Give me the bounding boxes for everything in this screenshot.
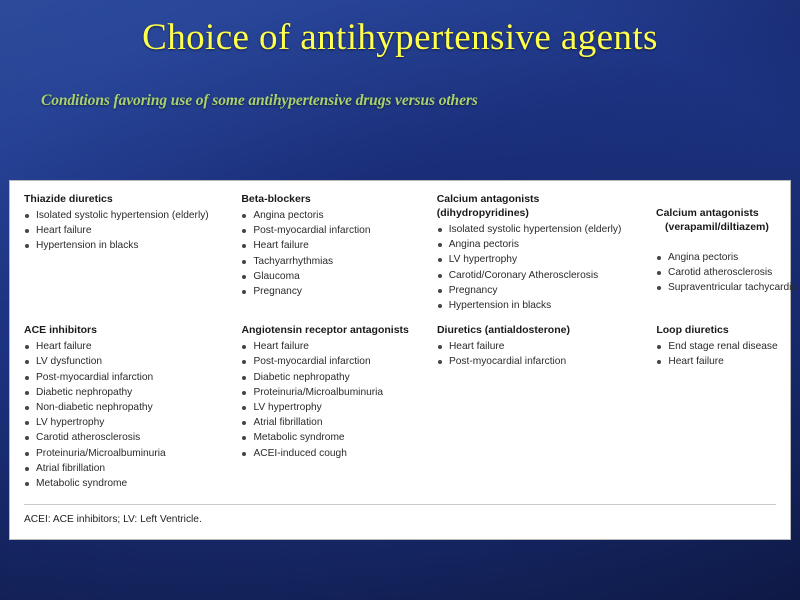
antihypertensive-agents-table: Thiazide diuretics Isolated systolic hyp… [9, 180, 791, 540]
list-item: Hypertension in blacks [24, 238, 219, 253]
column-heading: Beta-blockers [241, 192, 414, 206]
bottom-padding [10, 525, 790, 539]
list-item: Proteinuria/Microalbuminuria [24, 446, 219, 461]
column-heading-line2: (verapamil/diltiazem) [656, 220, 782, 234]
column-heading: Diuretics (antialdosterone) [437, 323, 634, 337]
list-item: Post-myocardial infarction [24, 370, 219, 385]
list-item: Post-myocardial infarction [241, 223, 414, 238]
item-list: Heart failure LV dysfunction Post-myocar… [24, 339, 219, 491]
item-list: Isolated systolic hypertension (elderly)… [437, 222, 634, 313]
list-item: Non-diabetic nephropathy [24, 400, 219, 415]
slide: Choice of antihypertensive agents Condit… [0, 0, 800, 600]
list-item: Atrial fibrillation [241, 415, 415, 430]
list-item: Post-myocardial infarction [241, 354, 415, 369]
column-heading: Angiotensin receptor antagonists [241, 323, 415, 337]
table-cell-diuretics-antialdosterone: Diuretics (antialdosterone) Heart failur… [423, 323, 642, 491]
column-heading-line1: Calcium antagonists [656, 207, 759, 219]
list-item: ACEI-induced cough [241, 446, 415, 461]
table-row: Thiazide diuretics Isolated systolic hyp… [10, 181, 790, 317]
list-item: Angina pectoris [241, 208, 414, 223]
slide-subtitle: Conditions favoring use of some antihype… [41, 92, 478, 110]
table-row: ACE inhibitors Heart failure LV dysfunct… [10, 317, 790, 495]
list-item: Pregnancy [241, 284, 414, 299]
list-item: Post-myocardial infarction [437, 354, 634, 369]
list-item: Metabolic syndrome [24, 476, 219, 491]
column-heading: ACE inhibitors [24, 323, 219, 337]
list-item: End stage renal disease [656, 339, 782, 354]
table-cell-beta-blockers: Beta-blockers Angina pectoris Post-myoca… [227, 192, 422, 313]
list-item: LV hypertrophy [241, 400, 415, 415]
column-heading: Thiazide diuretics [24, 192, 219, 206]
table-cell-loop-diuretics: Loop diuretics End stage renal disease H… [642, 323, 790, 491]
list-item: Heart failure [656, 354, 782, 369]
column-heading: Loop diuretics [656, 323, 782, 337]
table-footnote: ACEI: ACE inhibitors; LV: Left Ventricle… [10, 505, 790, 525]
list-item: Angina pectoris [656, 250, 782, 265]
list-item: Tachyarrhythmias [241, 254, 414, 269]
list-item: Carotid atherosclerosis [656, 265, 782, 280]
page-title: Choice of antihypertensive agents [0, 16, 800, 59]
list-item: Metabolic syndrome [241, 430, 415, 445]
list-item: Carotid atherosclerosis [24, 430, 219, 445]
list-item: Heart failure [437, 339, 634, 354]
list-item: LV hypertrophy [437, 252, 634, 267]
list-item: LV hypertrophy [24, 415, 219, 430]
item-list: End stage renal disease Heart failure [656, 339, 782, 369]
column-heading: Calcium antagonists (verapamil/diltiazem… [656, 192, 782, 248]
list-item: Hypertension in blacks [437, 298, 634, 313]
list-item: Heart failure [241, 238, 414, 253]
list-item: Glaucoma [241, 269, 414, 284]
column-heading: Calcium antagonists (dihydropyridines) [437, 192, 634, 220]
item-list: Angina pectoris Carotid atherosclerosis … [656, 250, 782, 296]
list-item: Isolated systolic hypertension (elderly) [437, 222, 634, 237]
table-cell-calcium-antagonists-dihydropyridines: Calcium antagonists (dihydropyridines) I… [423, 192, 642, 313]
list-item: Diabetic nephropathy [241, 370, 415, 385]
list-item: Heart failure [241, 339, 415, 354]
list-item: Supraventricular tachycardia [656, 280, 782, 295]
list-item: Pregnancy [437, 283, 634, 298]
list-item: Atrial fibrillation [24, 461, 219, 476]
list-item: Carotid/Coronary Atherosclerosis [437, 268, 634, 283]
item-list: Heart failure Post-myocardial infarction [437, 339, 634, 369]
table-cell-calcium-antagonists-verapamil-diltiazem: Calcium antagonists (verapamil/diltiazem… [642, 192, 790, 313]
table-cell-ace-inhibitors: ACE inhibitors Heart failure LV dysfunct… [10, 323, 227, 491]
list-item: Proteinuria/Microalbuminuria [241, 385, 415, 400]
list-item: Isolated systolic hypertension (elderly) [24, 208, 219, 223]
list-item: Heart failure [24, 223, 219, 238]
list-item: Heart failure [24, 339, 219, 354]
table-spacer [10, 495, 790, 504]
list-item: Angina pectoris [437, 237, 634, 252]
item-list: Angina pectoris Post-myocardial infarcti… [241, 208, 414, 299]
list-item: LV dysfunction [24, 354, 219, 369]
list-item: Diabetic nephropathy [24, 385, 219, 400]
table-grid: Thiazide diuretics Isolated systolic hyp… [10, 181, 790, 539]
item-list: Isolated systolic hypertension (elderly)… [24, 208, 219, 254]
item-list: Heart failure Post-myocardial infarction… [241, 339, 415, 461]
table-cell-angiotensin-receptor-antagonists: Angiotensin receptor antagonists Heart f… [227, 323, 423, 491]
table-cell-thiazide-diuretics: Thiazide diuretics Isolated systolic hyp… [10, 192, 227, 313]
